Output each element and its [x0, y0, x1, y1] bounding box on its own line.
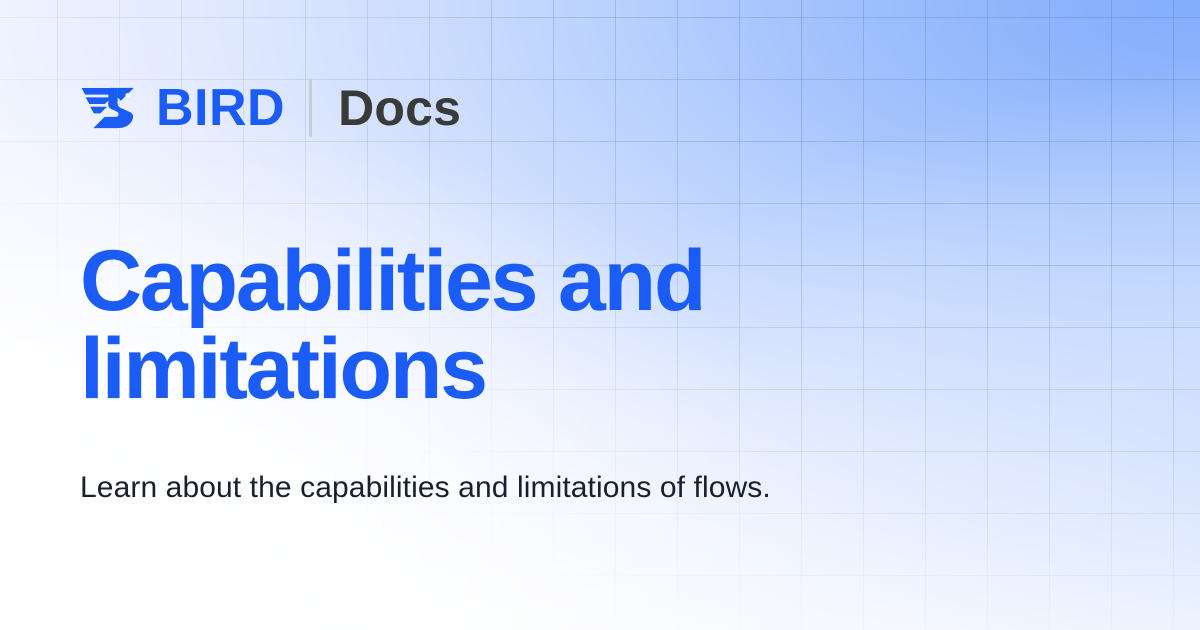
brand-header: BIRD Docs [80, 76, 461, 140]
card-content: BIRD Docs Capabilities and limitations L… [0, 0, 1200, 630]
bird-logo-icon [80, 86, 140, 130]
bird-logo-link[interactable]: BIRD [80, 82, 285, 134]
brand-section-label: Docs [338, 83, 461, 133]
page-subtitle: Learn about the capabilities and limitat… [80, 466, 870, 510]
brand-wordmark: BIRD [156, 82, 285, 134]
brand-divider [309, 79, 312, 137]
bird-eye-icon [125, 93, 129, 97]
og-card: BIRD Docs Capabilities and limitations L… [0, 0, 1200, 630]
page-title: Capabilities and limitations [80, 237, 880, 413]
